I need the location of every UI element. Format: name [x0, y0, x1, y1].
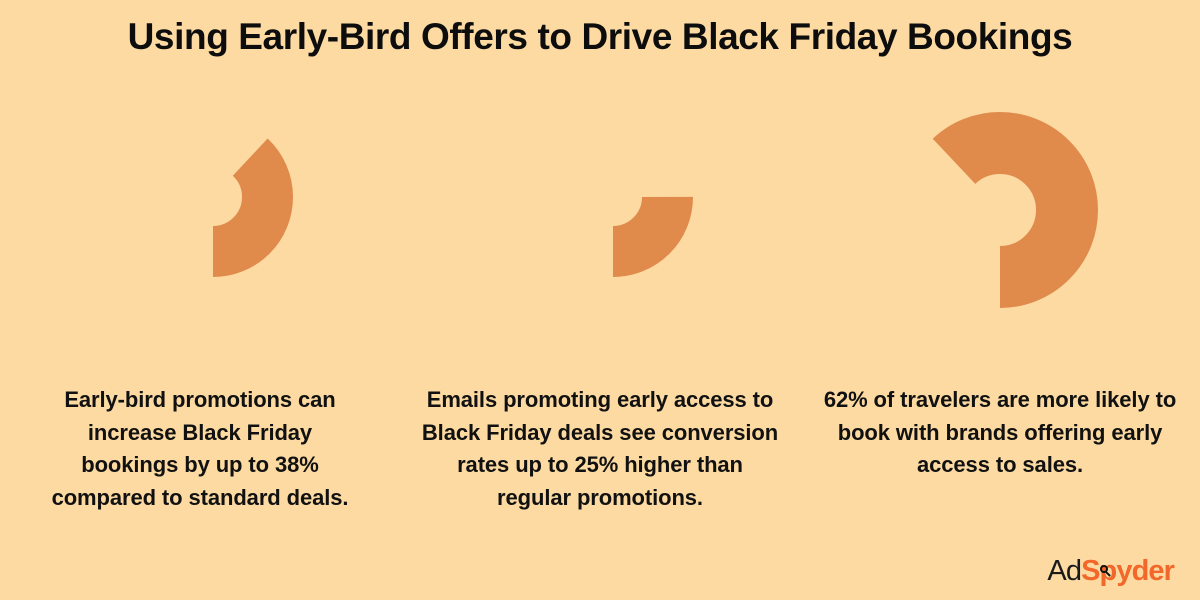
arc-segment	[159, 143, 268, 252]
stat-column-traveler-booking-likelihood: 62% of travelers are more likely to book…	[800, 96, 1200, 576]
donut-arc-25-percent	[490, 96, 710, 326]
arc-segment	[933, 143, 1067, 277]
donut-arc-62-percent	[890, 96, 1110, 326]
logo-spyder-label: Spyder	[1081, 555, 1174, 587]
stat-caption-2: Emails promoting early access to Black F…	[400, 384, 800, 514]
stat-column-early-bird-promotions: Early-bird promotions can increase Black…	[0, 96, 400, 576]
logo-text-ad: Ad	[1047, 557, 1081, 586]
stat-columns: Early-bird promotions can increase Black…	[0, 96, 1200, 576]
donut-chart-3	[890, 96, 1110, 326]
stat-caption-3: 62% of travelers are more likely to book…	[800, 384, 1200, 482]
donut-chart-2	[490, 96, 710, 326]
stat-caption-1: Early-bird promotions can increase Black…	[0, 384, 400, 514]
page-title: Using Early-Bird Offers to Drive Black F…	[0, 14, 1200, 60]
adspyder-logo: Ad Spyder	[1047, 557, 1174, 586]
magnifier-icon	[1100, 565, 1108, 573]
infographic-canvas: Using Early-Bird Offers to Drive Black F…	[0, 0, 1200, 600]
logo-text-spyder: Spyder	[1081, 557, 1174, 586]
donut-arc-38-percent	[90, 96, 310, 326]
stat-column-email-conversion-rates: Emails promoting early access to Black F…	[400, 96, 800, 576]
donut-chart-1	[90, 96, 310, 326]
arc-segment	[559, 143, 668, 252]
